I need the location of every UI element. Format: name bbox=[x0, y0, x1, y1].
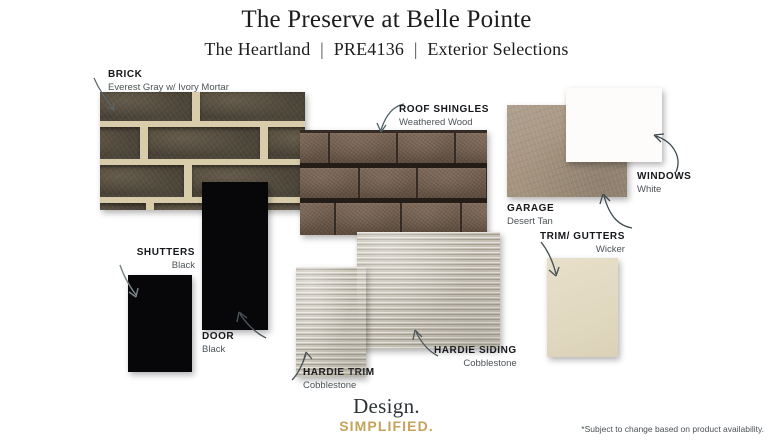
label-garage-title: GARAGE bbox=[507, 203, 554, 215]
label-garage-value: Desert Tan bbox=[507, 216, 554, 227]
label-brick-title: BRICK bbox=[108, 69, 229, 81]
label-roof-shingles: ROOF SHINGLES Weathered Wood bbox=[399, 104, 489, 128]
subtitle-separator-1: | bbox=[315, 39, 329, 59]
subtitle-plan-name: The Heartland bbox=[204, 39, 310, 59]
swatch-roof-shingles bbox=[300, 130, 487, 235]
subtitle-plan-code: PRE4136 bbox=[334, 39, 404, 59]
label-garage: GARAGE Desert Tan bbox=[507, 203, 554, 227]
page-subtitle: The Heartland | PRE4136 | Exterior Selec… bbox=[0, 39, 773, 60]
logo-line-design: Design. bbox=[0, 396, 773, 417]
label-trim-gutters-value: Wicker bbox=[540, 244, 625, 255]
label-roof-shingles-title: ROOF SHINGLES bbox=[399, 104, 489, 116]
label-door: DOOR Black bbox=[202, 331, 234, 355]
page-title: The Preserve at Belle Pointe bbox=[0, 6, 773, 34]
label-hardie-trim-value: Cobblestone bbox=[303, 380, 375, 391]
label-windows-title: WINDOWS bbox=[637, 171, 691, 183]
subtitle-separator-2: | bbox=[409, 39, 423, 59]
label-shutters-title: SHUTTERS bbox=[85, 247, 195, 259]
arrow-windows bbox=[646, 128, 686, 174]
label-brick: BRICK Everest Gray w/ Ivory Mortar bbox=[108, 69, 229, 93]
label-roof-shingles-value: Weathered Wood bbox=[399, 117, 489, 128]
swatch-hardie-trim bbox=[296, 267, 366, 377]
label-windows-value: White bbox=[637, 184, 691, 195]
label-trim-gutters-title: TRIM/ GUTTERS bbox=[540, 231, 625, 243]
exterior-selections-board: The Preserve at Belle Pointe The Heartla… bbox=[0, 0, 773, 444]
label-shutters-value: Black bbox=[85, 260, 195, 271]
subtitle-category: Exterior Selections bbox=[427, 39, 568, 59]
label-shutters: SHUTTERS Black bbox=[85, 247, 195, 271]
header: The Preserve at Belle Pointe The Heartla… bbox=[0, 0, 773, 60]
label-hardie-siding-value: Cobblestone bbox=[434, 358, 517, 369]
arrow-garage bbox=[590, 190, 634, 230]
label-door-title: DOOR bbox=[202, 331, 234, 343]
label-trim-gutters: TRIM/ GUTTERS Wicker bbox=[540, 231, 625, 255]
label-windows: WINDOWS White bbox=[637, 171, 691, 195]
label-door-value: Black bbox=[202, 344, 234, 355]
swatch-hardie-siding bbox=[357, 232, 500, 349]
label-brick-value: Everest Gray w/ Ivory Mortar bbox=[108, 82, 229, 93]
disclaimer-text: *Subject to change based on product avai… bbox=[581, 424, 764, 434]
